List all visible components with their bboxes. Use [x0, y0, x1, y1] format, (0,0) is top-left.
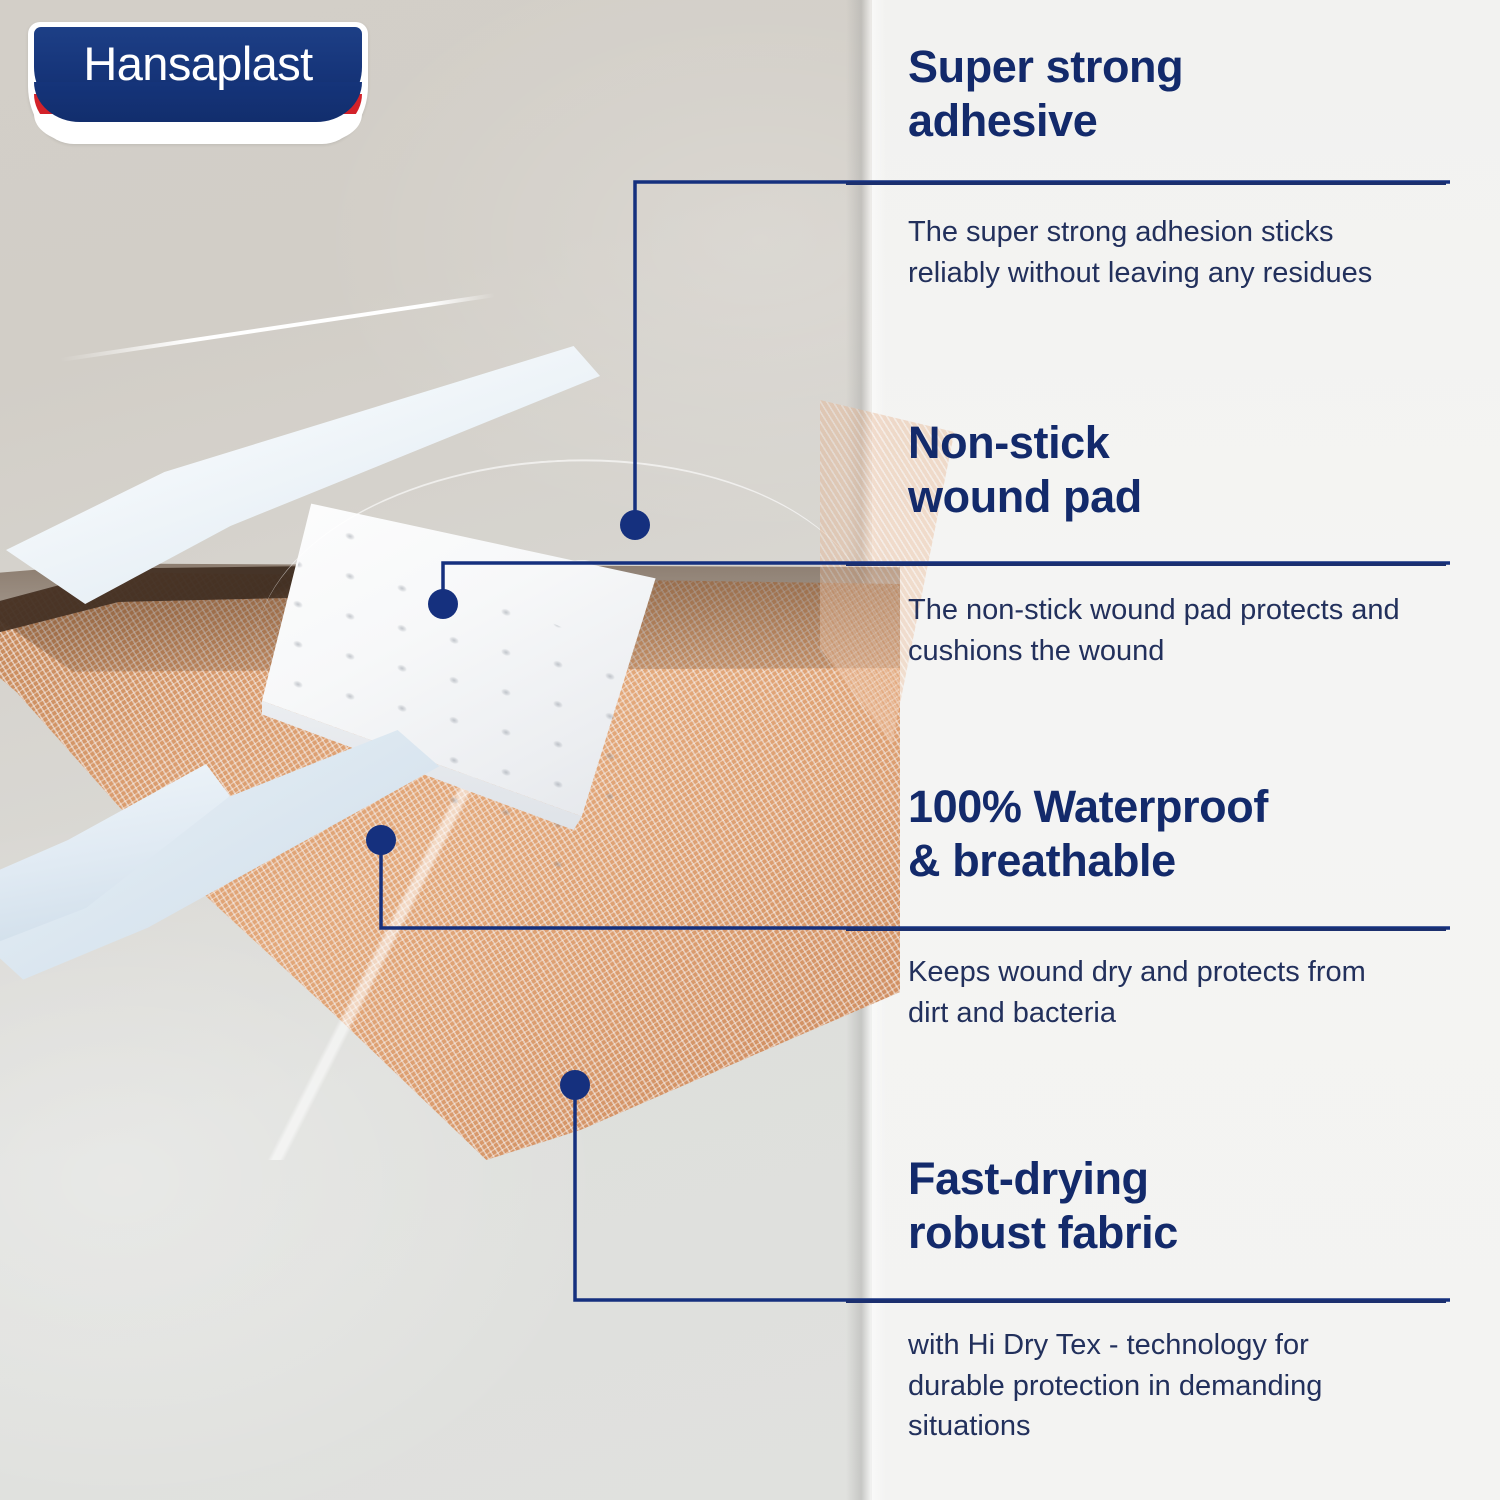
feature-title-waterproof: 100% Waterproof & breathable [908, 780, 1448, 888]
feature-rule-wound-pad [846, 563, 1446, 566]
feature-body-wrap-fast-drying: with Hi Dry Tex - technology for durable… [908, 1325, 1408, 1447]
hansaplast-logo: Hansaplast [28, 22, 368, 144]
feature-rule-adhesive [846, 182, 1446, 185]
logo-wordmark: Hansaplast [28, 36, 368, 91]
feature-body-wound-pad: The non-stick wound pad protects and cus… [908, 590, 1428, 671]
product-illustration [0, 330, 900, 1160]
peeled-protective-liner [0, 340, 600, 640]
feature-title-fast-drying: Fast-drying robust fabric [908, 1152, 1448, 1260]
infographic-canvas: Hansaplast [0, 0, 1500, 1500]
liner-top-surface [0, 340, 600, 640]
feature-title-line: & breathable [908, 834, 1448, 888]
feature-block-wound-pad: Non-stick wound pad [908, 416, 1448, 524]
feature-body-waterproof: Keeps wound dry and protects from dirt a… [908, 952, 1408, 1033]
feature-block-waterproof: 100% Waterproof & breathable [908, 780, 1448, 888]
feature-title-line: Non-stick [908, 416, 1448, 470]
feature-title-adhesive: Super strong adhesive [908, 40, 1448, 148]
feature-body-wrap-wound-pad: The non-stick wound pad protects and cus… [908, 590, 1428, 671]
feature-body-adhesive: The super strong adhesion sticks reliabl… [908, 212, 1418, 293]
feature-title-line: robust fabric [908, 1206, 1448, 1260]
feature-title-line: wound pad [908, 470, 1448, 524]
feature-block-fast-drying: Fast-drying robust fabric [908, 1152, 1448, 1260]
feature-title-line: Super strong [908, 40, 1448, 94]
feature-rule-waterproof [846, 928, 1446, 931]
feature-body-wrap-adhesive: The super strong adhesion sticks reliabl… [908, 212, 1418, 293]
feature-body-wrap-waterproof: Keeps wound dry and protects from dirt a… [908, 952, 1408, 1033]
feature-title-wound-pad: Non-stick wound pad [908, 416, 1448, 524]
feature-rule-fast-drying [846, 1300, 1446, 1303]
feature-title-line: adhesive [908, 94, 1448, 148]
feature-body-fast-drying: with Hi Dry Tex - technology for durable… [908, 1325, 1408, 1447]
feature-block-adhesive: Super strong adhesive [908, 40, 1448, 148]
feature-title-line: 100% Waterproof [908, 780, 1448, 834]
feature-title-line: Fast-drying [908, 1152, 1448, 1206]
